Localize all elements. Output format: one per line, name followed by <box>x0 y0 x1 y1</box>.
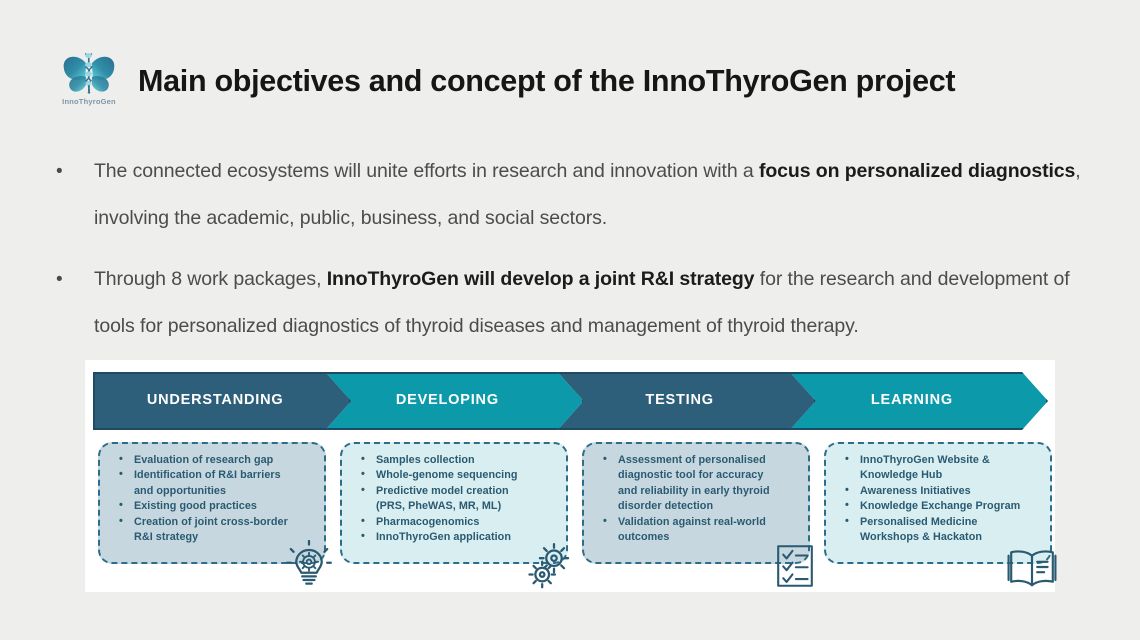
logo-wordmark: InnoThyroGen <box>62 97 116 106</box>
bullet-item: •Through 8 work packages, InnoThyroGen w… <box>52 256 1092 350</box>
phase-item: Knowledge Hub <box>836 468 1040 483</box>
phase-item-list: Samples collectionWhole-genome sequencin… <box>342 444 566 545</box>
phase-chevron-understanding[interactable]: UNDERSTANDING <box>93 372 351 430</box>
phase-detail-box[interactable]: Evaluation of research gapIdentification… <box>98 442 326 564</box>
phase-item: Pharmacogenomics <box>352 515 556 530</box>
phase-item: InnoThyroGen Website & <box>836 453 1040 468</box>
bullet-item: •The connected ecosystems will unite eff… <box>52 148 1092 242</box>
phase-chevron-strip: UNDERSTANDINGDEVELOPINGTESTINGLEARNING <box>93 372 1048 430</box>
phase-chevron-developing[interactable]: DEVELOPING <box>325 372 583 430</box>
phase-chevron-label: UNDERSTANDING <box>147 392 298 408</box>
phase-detail-box[interactable]: Assessment of personaliseddiagnostic too… <box>582 442 810 564</box>
phase-item: InnoThyroGen application <box>352 530 556 545</box>
phase-detail-boxes: Evaluation of research gapIdentification… <box>93 442 1048 567</box>
bullet-emphasis: InnoThyroGen will develop a joint R&I st… <box>327 268 755 290</box>
bullet-marker-icon: • <box>52 256 94 304</box>
slide-header: InnoThyroGen Main objectives and concept… <box>58 48 955 114</box>
phase-box-wrapper-understanding: Evaluation of research gapIdentification… <box>98 442 326 587</box>
phase-item-list: Assessment of personaliseddiagnostic too… <box>584 444 808 545</box>
phase-item-list: InnoThyroGen Website &Knowledge HubAware… <box>826 444 1050 545</box>
phase-box-wrapper-developing: Samples collectionWhole-genome sequencin… <box>340 442 568 587</box>
phase-item: and reliability in early thyroid <box>594 484 798 499</box>
phase-item: and opportunities <box>110 484 314 499</box>
phase-item: Workshops & Hackaton <box>836 530 1040 545</box>
innothyrogen-butterfly-dna-logo <box>60 48 118 96</box>
phase-item: Awareness Initiatives <box>836 484 1040 499</box>
phase-chevron-label: LEARNING <box>871 392 967 408</box>
phase-box-wrapper-learning: InnoThyroGen Website &Knowledge HubAware… <box>824 442 1052 587</box>
phase-item: (PRS, PheWAS, MR, ML) <box>352 499 556 514</box>
phase-item: Predictive model creation <box>352 484 556 499</box>
phase-chevron-testing[interactable]: TESTING <box>558 372 816 430</box>
phase-item: R&I strategy <box>110 530 314 545</box>
phase-chevron-label: DEVELOPING <box>396 392 513 408</box>
phase-item: Existing good practices <box>110 499 314 514</box>
phase-item-list: Evaluation of research gapIdentification… <box>100 444 324 545</box>
bullet-span: The connected ecosystems will unite effo… <box>94 160 759 182</box>
phase-item: disorder detection <box>594 499 798 514</box>
phase-item: Identification of R&I barriers <box>110 468 314 483</box>
phase-chevron-learning[interactable]: LEARNING <box>790 372 1048 430</box>
bullet-emphasis: focus on personalized diagnostics <box>759 160 1075 182</box>
phase-chevron-label: TESTING <box>645 392 727 408</box>
phase-item: Samples collection <box>352 453 556 468</box>
bullet-text: Through 8 work packages, InnoThyroGen wi… <box>94 256 1092 350</box>
phase-box-wrapper-testing: Assessment of personaliseddiagnostic too… <box>582 442 810 587</box>
phase-item: Personalised Medicine <box>836 515 1040 530</box>
logo-block: InnoThyroGen <box>58 48 120 114</box>
phase-item: outcomes <box>594 530 798 545</box>
phase-item: Assessment of personalised <box>594 453 798 468</box>
phase-detail-box[interactable]: InnoThyroGen Website &Knowledge HubAware… <box>824 442 1052 564</box>
bullet-text: The connected ecosystems will unite effo… <box>94 148 1092 242</box>
phase-item: diagnostic tool for accuracy <box>594 468 798 483</box>
objectives-bullet-list: •The connected ecosystems will unite eff… <box>52 148 1092 364</box>
bullet-marker-icon: • <box>52 148 94 196</box>
phase-item: Knowledge Exchange Program <box>836 499 1040 514</box>
page-title: Main objectives and concept of the InnoT… <box>138 64 955 99</box>
phases-diagram-panel: UNDERSTANDINGDEVELOPINGTESTINGLEARNING E… <box>85 360 1055 592</box>
phase-item: Whole-genome sequencing <box>352 468 556 483</box>
phase-detail-box[interactable]: Samples collectionWhole-genome sequencin… <box>340 442 568 564</box>
phase-item: Creation of joint cross-border <box>110 515 314 530</box>
phase-item: Validation against real-world <box>594 515 798 530</box>
phase-item: Evaluation of research gap <box>110 453 314 468</box>
bullet-span: Through 8 work packages, <box>94 268 327 290</box>
